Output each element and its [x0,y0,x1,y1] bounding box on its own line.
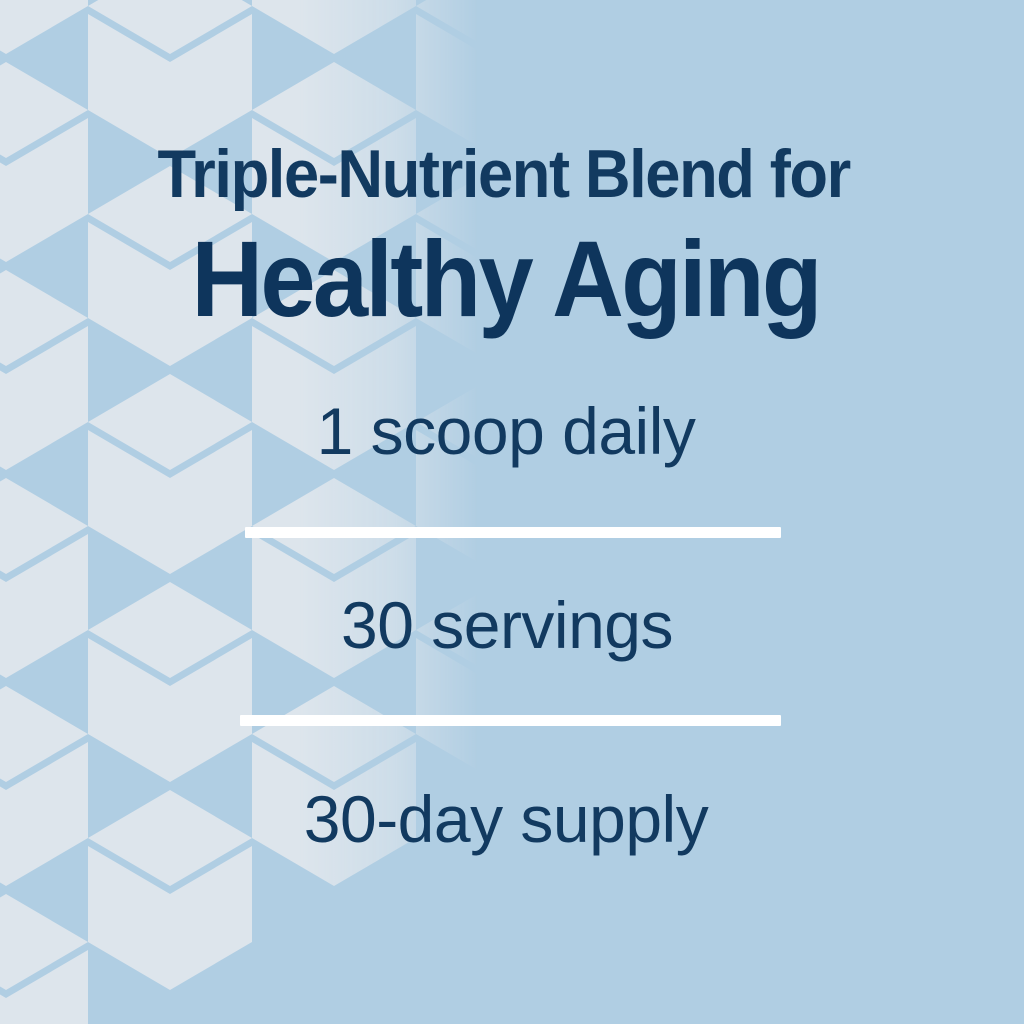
fact-servings: 30 servings [0,592,1024,658]
fact-dosage: 1 scoop daily [0,398,1024,464]
headline-main: Healthy Aging [41,222,983,335]
fact-supply-duration: 30-day supply [0,786,1024,852]
divider-after-servings [240,715,781,726]
divider-after-dosage [245,527,781,538]
headline-eyebrow: Triple-Nutrient Blend for [36,140,988,208]
product-infographic-card: Triple-Nutrient Blend for Healthy Aging … [0,0,1024,1024]
content-layer: Triple-Nutrient Blend for Healthy Aging … [0,0,1024,1024]
